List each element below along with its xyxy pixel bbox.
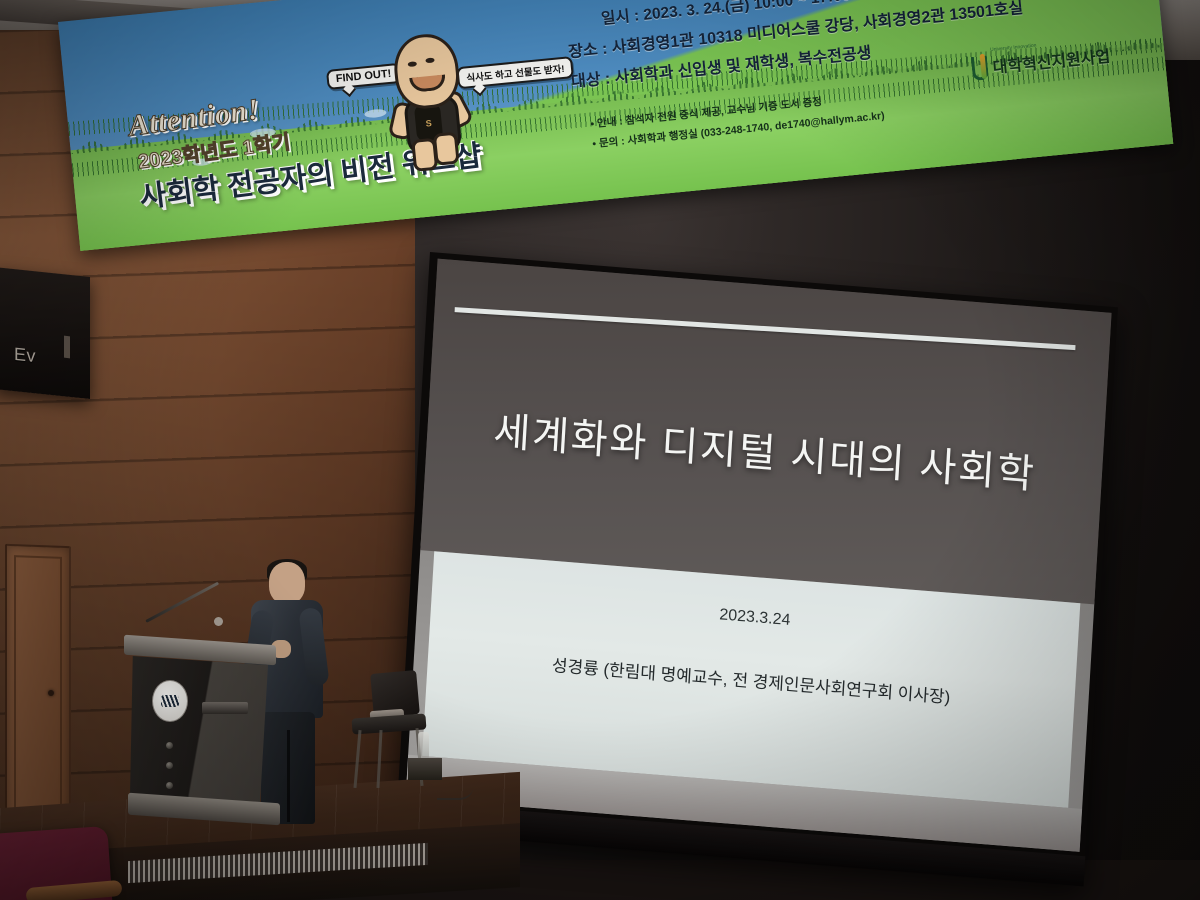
lecture-hall-photo: Ev Attention! 2023학년도 1학기 사회학 전공자의 비전 워크… (0, 0, 1200, 900)
door-knob-icon[interactable] (48, 690, 54, 696)
person-head (269, 562, 305, 604)
podium-button-icon[interactable] (166, 762, 173, 769)
university-emblem-icon (152, 680, 188, 722)
chair-leg (376, 730, 382, 788)
ui-logo-mark-icon: University Innovation (971, 53, 990, 81)
presentation-slide: 세계화와 디지털 시대의 사회학 2023.3.24 성경륭 (한림대 명예교수… (406, 259, 1112, 852)
speaker-brand-label: Ev (14, 344, 36, 367)
microphone-head-icon (214, 617, 223, 626)
podium-button-icon[interactable] (166, 782, 173, 789)
podium-button-icon[interactable] (166, 742, 173, 749)
podium-body (130, 656, 268, 808)
mascot-character: S (379, 31, 473, 166)
mascot-leg-right (433, 132, 460, 166)
chair-leg (353, 730, 361, 788)
speaker-led-strip (64, 336, 70, 359)
slide-date: 2023.3.24 (431, 584, 1079, 654)
podium-control-panel[interactable] (202, 702, 248, 714)
lectern-podium (130, 640, 272, 820)
wall-speaker (0, 267, 90, 399)
side-door[interactable] (5, 544, 71, 840)
mascot-badge-icon: S (425, 118, 432, 129)
slide-author: 성경륭 (한림대 명예교수, 전 경제인문사회연구회 이사장) (427, 641, 1075, 718)
floor-cable (437, 770, 473, 800)
